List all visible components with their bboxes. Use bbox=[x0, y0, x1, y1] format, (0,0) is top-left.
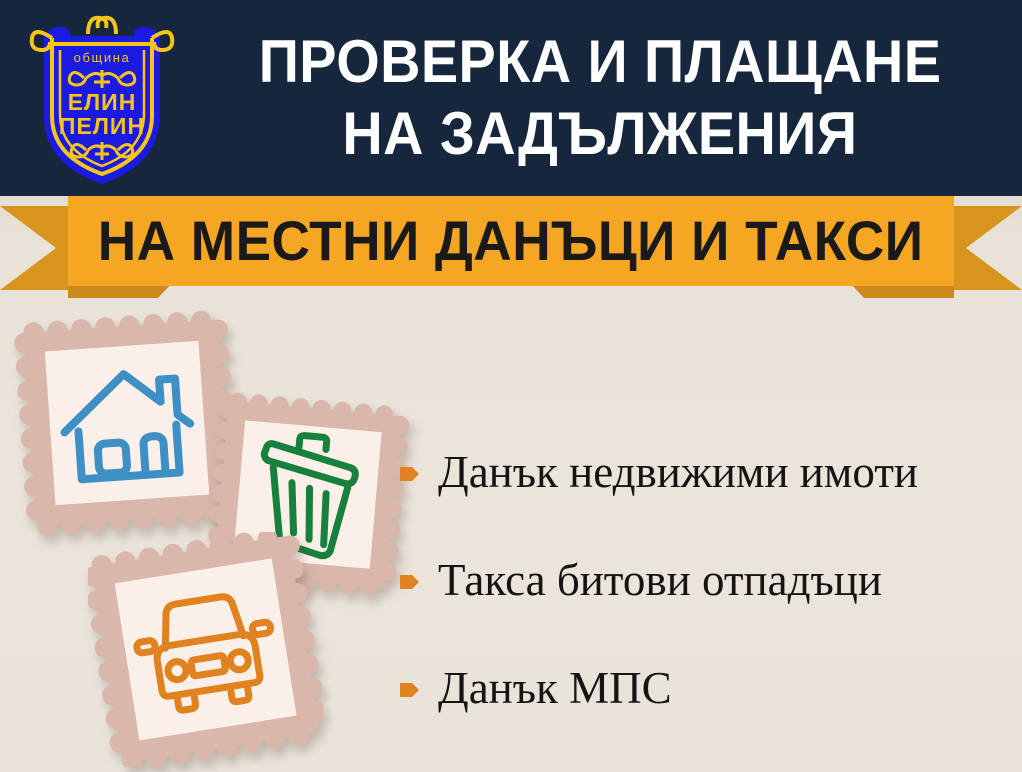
poster-canvas: община ЕЛИН ПЕЛИН ПРОВЕРКА И П bbox=[0, 0, 1022, 772]
list-item[interactable]: Такса битови отпадъци bbox=[398, 526, 1012, 634]
svg-text:ЕЛИН: ЕЛИН bbox=[68, 89, 137, 115]
municipality-logo: община ЕЛИН ПЕЛИН bbox=[22, 4, 182, 190]
title-line-2: НА ЗАДЪЛЖЕНИЯ bbox=[342, 98, 857, 170]
list-item-label: Данък недвижими имоти bbox=[438, 447, 918, 497]
tax-type-list: Данък недвижими имоти Такса битови отпад… bbox=[398, 418, 1012, 742]
svg-text:община: община bbox=[74, 50, 131, 65]
arrow-bullet-icon bbox=[398, 463, 420, 485]
arrow-bullet-icon bbox=[398, 679, 420, 701]
ribbon-label: НА МЕСТНИ ДАНЪЦИ И ТАКСИ bbox=[98, 212, 924, 270]
title-line-1: ПРОВЕРКА И ПЛАЩАНЕ bbox=[259, 26, 942, 98]
car-stamp bbox=[88, 532, 323, 767]
page-title: ПРОВЕРКА И ПЛАЩАНЕ НА ЗАДЪЛЖЕНИЯ bbox=[190, 16, 1010, 180]
list-item-label: Данък МПС bbox=[438, 663, 672, 713]
list-item[interactable]: Данък недвижими имоти bbox=[398, 418, 1012, 526]
ribbon-main-panel: НА МЕСТНИ ДАНЪЦИ И ТАКСИ bbox=[68, 196, 954, 286]
ribbon-banner: НА МЕСТНИ ДАНЪЦИ И ТАКСИ bbox=[0, 196, 1022, 308]
list-item-label: Такса битови отпадъци bbox=[438, 555, 882, 605]
svg-text:ПЕЛИН: ПЕЛИН bbox=[59, 113, 145, 139]
arrow-bullet-icon bbox=[398, 571, 420, 593]
list-item[interactable]: Данък МПС bbox=[398, 634, 1012, 742]
